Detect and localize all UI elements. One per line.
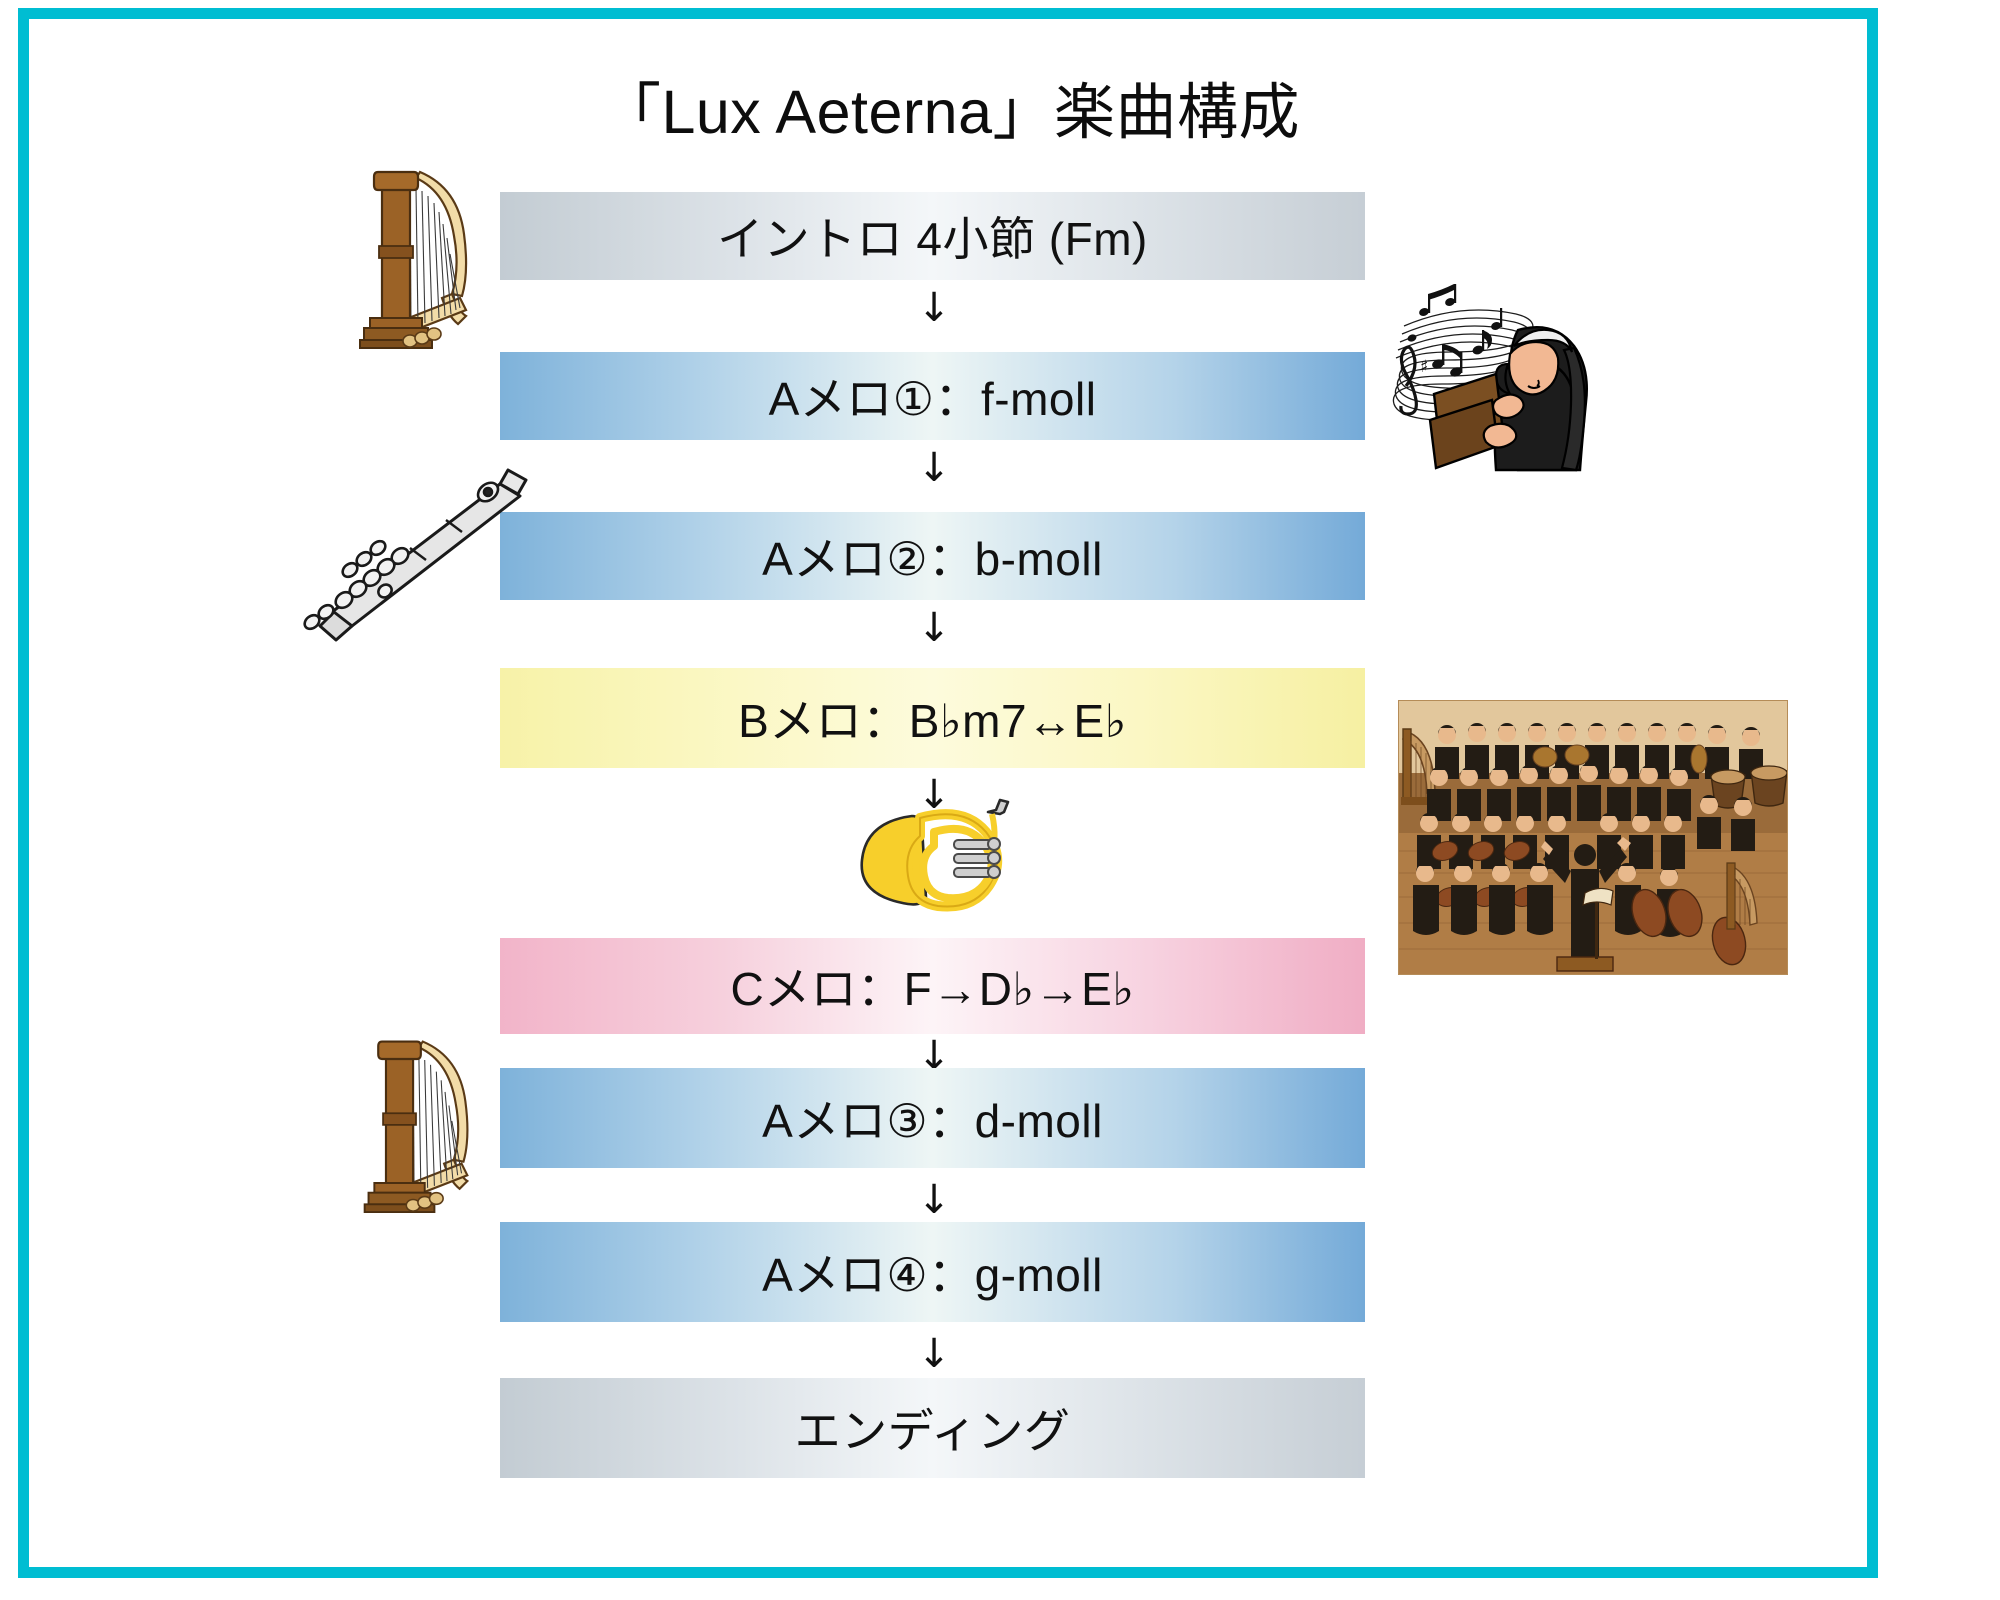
flow-step-label: Bメロ：B♭m7↔E♭ xyxy=(738,685,1127,751)
svg-text:♯: ♯ xyxy=(1420,357,1428,377)
flow-arrow-3: ↓ xyxy=(912,608,956,648)
flow-step-label: Aメロ④：g-moll xyxy=(762,1239,1103,1305)
flow-step-a4[interactable]: Aメロ④：g-moll xyxy=(500,1222,1365,1322)
slide-canvas: 「Lux Aeterna」楽曲構成 イントロ 4小節 (Fm) ↓ Aメロ①：f… xyxy=(0,0,2000,1600)
flow-step-a3[interactable]: Aメロ③：d-moll xyxy=(500,1068,1365,1168)
flow-step-b[interactable]: Bメロ：B♭m7↔E♭ xyxy=(500,668,1365,768)
flow-step-ending[interactable]: エンディング xyxy=(500,1378,1365,1478)
flow-step-label: イントロ 4小節 (Fm) xyxy=(717,203,1148,269)
flow-step-c[interactable]: Cメロ：F→D♭→E♭ xyxy=(500,938,1365,1034)
flow-step-label: エンディング xyxy=(795,1395,1071,1461)
flute-icon xyxy=(250,452,540,652)
flow-arrow-2: ↓ xyxy=(912,448,956,488)
flow-step-label: Cメロ：F→D♭→E♭ xyxy=(730,953,1134,1019)
harp-icon xyxy=(348,158,478,350)
flow-arrow-1: ↓ xyxy=(912,288,956,328)
orchestra-photo xyxy=(1398,700,1788,975)
flow-step-label: Aメロ③：d-moll xyxy=(762,1085,1103,1151)
french-horn-icon xyxy=(858,796,1026,914)
flow-step-label: Aメロ①：f-moll xyxy=(769,363,1097,429)
flow-step-a1[interactable]: Aメロ①：f-moll xyxy=(500,352,1365,440)
harp-icon xyxy=(352,1028,480,1214)
page-title: 「Lux Aeterna」楽曲構成 xyxy=(0,62,1900,151)
flow-arrow-7: ↓ xyxy=(912,1334,956,1374)
flow-step-a2[interactable]: Aメロ②：b-moll xyxy=(500,512,1365,600)
flow-step-label: Aメロ②：b-moll xyxy=(762,523,1103,589)
singing-nun-icon: ♯ xyxy=(1378,268,1608,508)
flow-step-intro[interactable]: イントロ 4小節 (Fm) xyxy=(500,192,1365,280)
flow-arrow-6: ↓ xyxy=(912,1180,956,1220)
